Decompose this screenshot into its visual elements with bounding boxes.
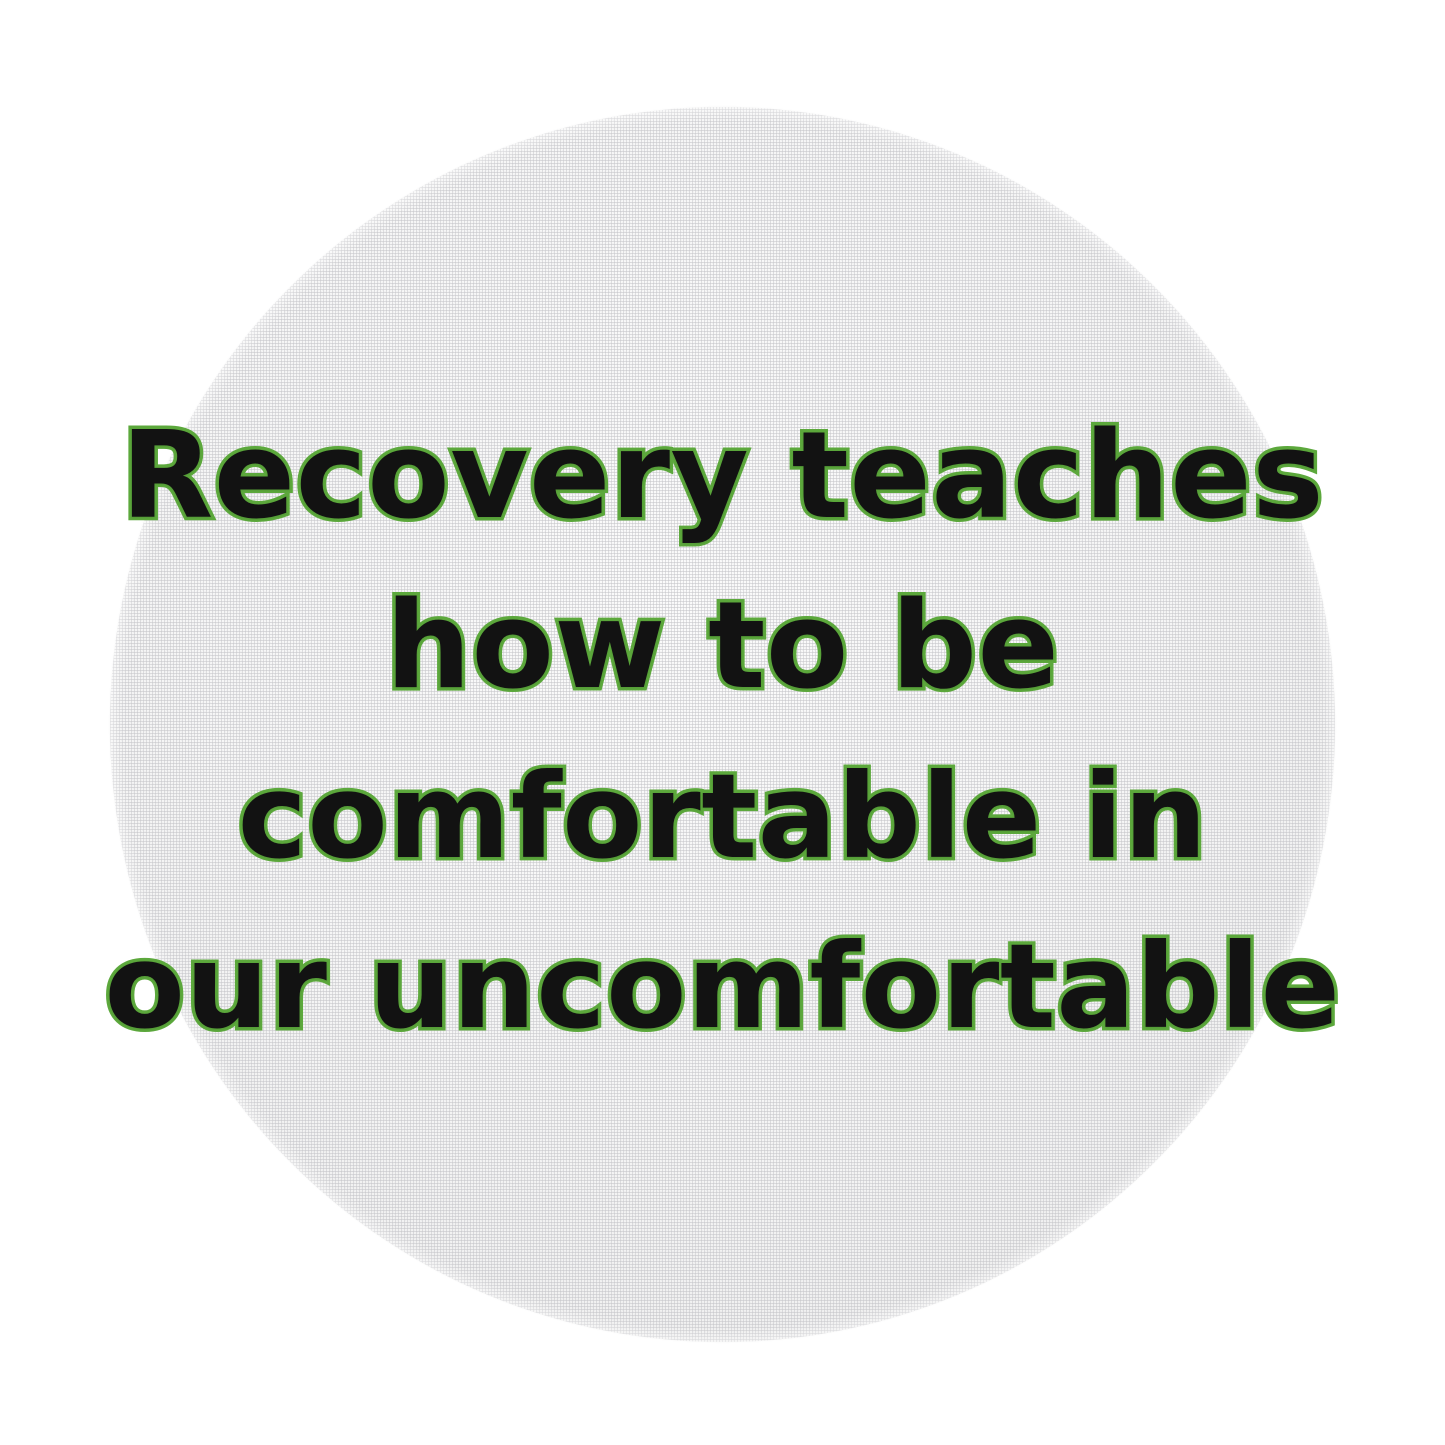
round-fabric-mat bbox=[110, 107, 1335, 1342]
canvas: Recovery teaches how to be comfortable i… bbox=[0, 0, 1445, 1445]
